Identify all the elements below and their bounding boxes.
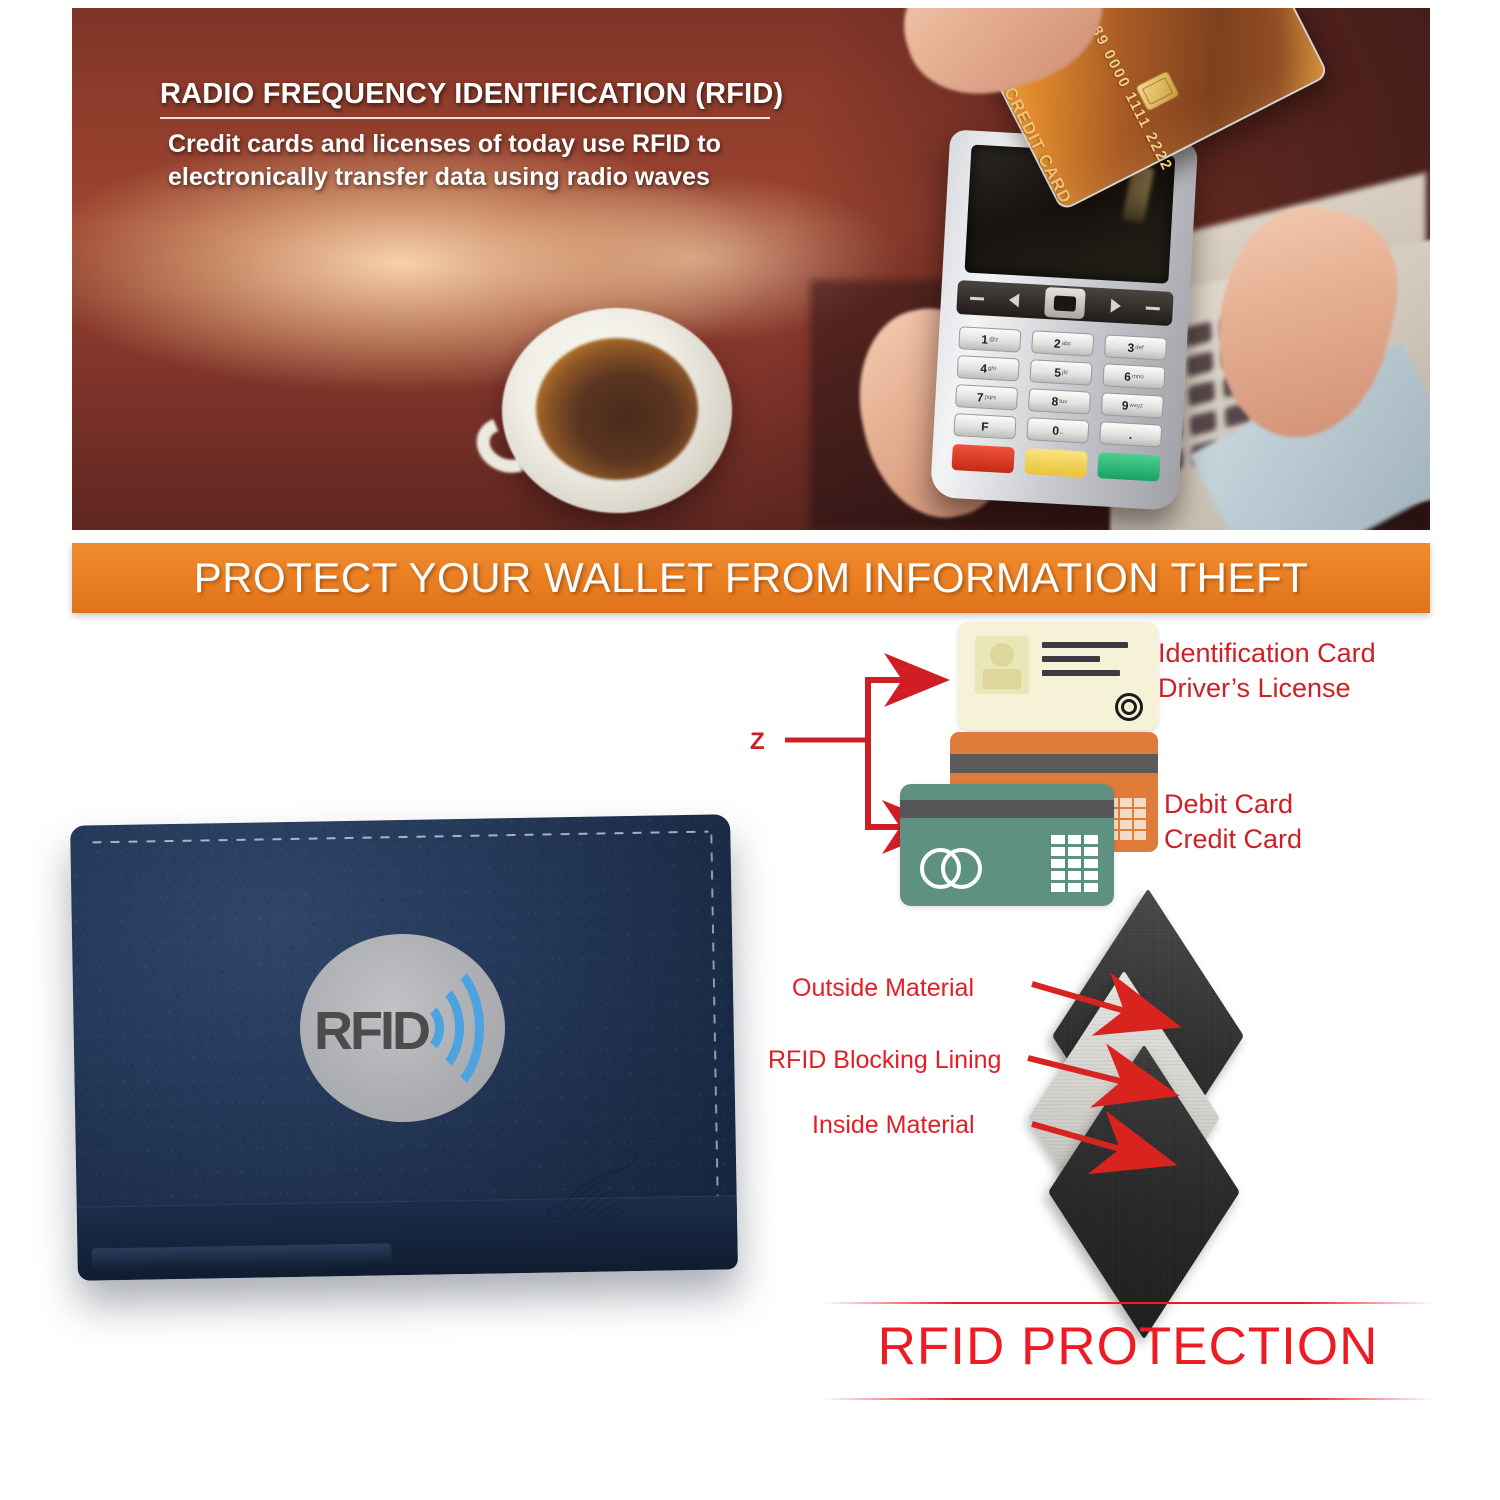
pos-key-5-label: 5 — [1054, 365, 1061, 379]
pos-key-6: 6mno — [1102, 363, 1165, 389]
payment-cards-label-line-1: Debit Card — [1164, 787, 1302, 822]
pos-key-0-label: 0 — [1052, 423, 1059, 437]
pos-key-1: 1@z — [958, 326, 1021, 352]
pos-key-dot-label: . — [1129, 427, 1133, 441]
rfid-badge-icon: RFID — [300, 934, 505, 1122]
pos-key-4-label: 4 — [980, 361, 987, 375]
hero-title: RADIO FREQUENCY IDENTIFICATION (RFID) — [160, 78, 783, 111]
pos-key-3-sub: def — [1135, 345, 1144, 351]
pos-navigation-keys — [956, 280, 1174, 326]
pos-key-2-label: 2 — [1054, 336, 1061, 350]
headline-banner: PROTECT YOUR WALLET FROM INFORMATION THE… — [72, 543, 1430, 613]
green-card-magstripe — [900, 800, 1114, 818]
pos-key-9-label: 9 — [1121, 398, 1128, 412]
hero-photo-panel: 1@z 2abc 3def 4ghi 5jkl 6mno 7pqrs 8tuv … — [72, 8, 1430, 530]
wallet-fold-edge — [77, 1195, 738, 1281]
footer-rule-top — [822, 1302, 1434, 1304]
inside-material-label: Inside Material — [812, 1111, 975, 1140]
payment-cards-label: Debit Card Credit Card — [1164, 787, 1302, 856]
pos-key-2: 2abc — [1031, 330, 1094, 356]
pos-key-9-sub: wxyz — [1129, 402, 1143, 409]
orange-card-magstripe — [950, 754, 1158, 773]
identification-card-label-line-2: Driver’s License — [1158, 671, 1376, 706]
pos-key-9: 9wxyz — [1101, 392, 1164, 418]
identification-card-label: Identification Card Driver’s License — [1158, 636, 1376, 705]
pos-cancel-button — [951, 444, 1014, 473]
pos-key-8-label: 8 — [1051, 394, 1058, 408]
pos-key-0: 0_ — [1026, 417, 1089, 443]
payment-cards-label-line-2: Credit Card — [1164, 822, 1302, 857]
identification-card-graphic — [958, 622, 1158, 730]
pos-key-5: 5jkl — [1029, 359, 1092, 385]
hero-divider — [160, 117, 770, 119]
headline-banner-text: PROTECT YOUR WALLET FROM INFORMATION THE… — [194, 554, 1309, 602]
pos-key-5-sub: jkl — [1062, 369, 1068, 375]
pos-key-7-sub: pqrs — [984, 394, 996, 401]
identification-card-label-line-1: Identification Card — [1158, 636, 1376, 671]
rfid-protection-footer: RFID PROTECTION — [822, 1290, 1434, 1408]
green-card-chip-grid-icon — [1051, 835, 1098, 892]
pos-key-f-label: F — [981, 419, 989, 433]
pos-enter-button — [1097, 452, 1160, 481]
id-card-text-line-3 — [1042, 670, 1120, 676]
footer-rule-bottom — [822, 1398, 1434, 1400]
outside-material-label: Outside Material — [792, 974, 974, 1003]
pos-key-f: F — [953, 413, 1016, 439]
green-payment-card-graphic — [900, 784, 1114, 906]
id-card-text-line-2 — [1042, 656, 1100, 662]
interlocking-circles-logo-icon — [920, 848, 982, 890]
bird-logo-emboss-icon — [545, 1142, 637, 1228]
pos-key-4-sub: ghi — [988, 365, 996, 371]
id-card-rfid-chip-icon — [1115, 693, 1143, 721]
pos-key-3: 3def — [1104, 334, 1167, 360]
pos-correct-button — [1024, 448, 1087, 477]
infographic-canvas: 1@z 2abc 3def 4ghi 5jkl 6mno 7pqrs 8tuv … — [0, 0, 1500, 1500]
pos-key-7: 7pqrs — [955, 384, 1018, 410]
pos-key-8-sub: tuv — [1059, 398, 1067, 404]
pos-key-3-label: 3 — [1127, 340, 1134, 354]
id-card-text-line-1 — [1042, 642, 1128, 648]
pos-key-7-label: 7 — [977, 390, 984, 404]
material-layers-diagram: Outside Material RFID Blocking Lining In… — [770, 948, 1450, 1228]
pos-key-dot: . — [1099, 421, 1162, 447]
pos-key-1-sub: @z — [989, 336, 998, 342]
pos-key-6-sub: mno — [1132, 373, 1144, 380]
coffee-cup — [502, 308, 732, 513]
pos-key-6-label: 6 — [1124, 369, 1131, 383]
pos-key-8: 8tuv — [1028, 388, 1091, 414]
rfid-blocking-lining-label: RFID Blocking Lining — [768, 1046, 1001, 1075]
pos-keypad: 1@z 2abc 3def 4ghi 5jkl 6mno 7pqrs 8tuv … — [951, 326, 1167, 481]
pos-key-1-label: 1 — [981, 332, 988, 346]
pos-key-4: 4ghi — [957, 355, 1020, 381]
id-card-photo-placeholder — [975, 636, 1029, 694]
hero-subtitle: Credit cards and licenses of today use R… — [168, 128, 808, 194]
pos-key-2-sub: abc — [1062, 340, 1072, 347]
pos-key-0-sub: _ — [1060, 427, 1064, 433]
espresso-surface — [536, 338, 698, 480]
rfid-wave-arc-3 — [386, 956, 484, 1100]
protected-cards-diagram: Z — [740, 612, 1440, 922]
rfid-protection-text: RFID PROTECTION — [822, 1316, 1434, 1377]
